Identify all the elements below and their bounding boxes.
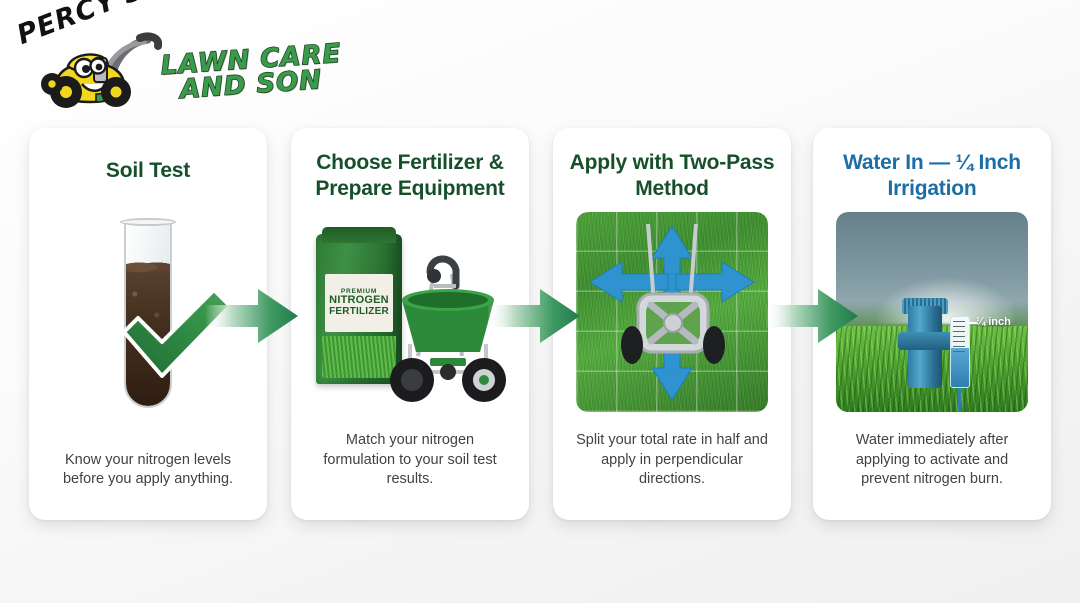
step-description: Match your nitrogen formulation to your … [303, 431, 517, 490]
step-illustration-watering: ¼ inch [836, 212, 1028, 412]
bag-label-fertilizer: FERTILIZER [329, 307, 389, 318]
step-title: Apply with Two-Pass Method [565, 150, 779, 204]
bag-top-seal [322, 227, 396, 243]
step-description: Water immediately after applying to acti… [825, 431, 1039, 490]
rain-gauge-ticks [953, 321, 965, 355]
rain-gauge-stake [958, 388, 961, 412]
step-illustration-two-pass [576, 212, 768, 412]
quarter-inch-label: ¼ inch [976, 316, 1011, 328]
brand-logo[interactable]: PERCY'S LAWN CARE AND SON [16, 8, 336, 113]
connector-arrow-1 [206, 285, 298, 347]
two-pass-arrows-and-spreader [576, 212, 768, 412]
step-illustration-fertilizer: PREMIUM NITROGEN FERTILIZER [314, 212, 506, 412]
step-description: Know your nitrogen levels before you app… [41, 451, 255, 490]
step-card-two-pass[interactable]: Apply with Two-Pass Method [553, 128, 791, 520]
step-title: Soil Test [106, 150, 190, 204]
sprinkler-collar [898, 332, 952, 350]
test-tube-rim [120, 218, 176, 226]
step-description: Split your total rate in half and apply … [565, 431, 779, 490]
bag-grass-photo [322, 336, 396, 378]
step-title: Water In — ¼ Inch Irrigation [825, 150, 1039, 204]
connector-arrow-2 [488, 285, 580, 347]
lawn-mower-mascot-icon [40, 32, 162, 110]
connector-arrow-3 [766, 285, 858, 347]
brand-name-lawncare: LAWN CARE AND SON [156, 48, 346, 98]
step-title: Choose Fertilizer & Prepare Equipment [303, 150, 517, 204]
bag-label: PREMIUM NITROGEN FERTILIZER [325, 274, 393, 332]
rain-gauge-icon [950, 316, 970, 388]
